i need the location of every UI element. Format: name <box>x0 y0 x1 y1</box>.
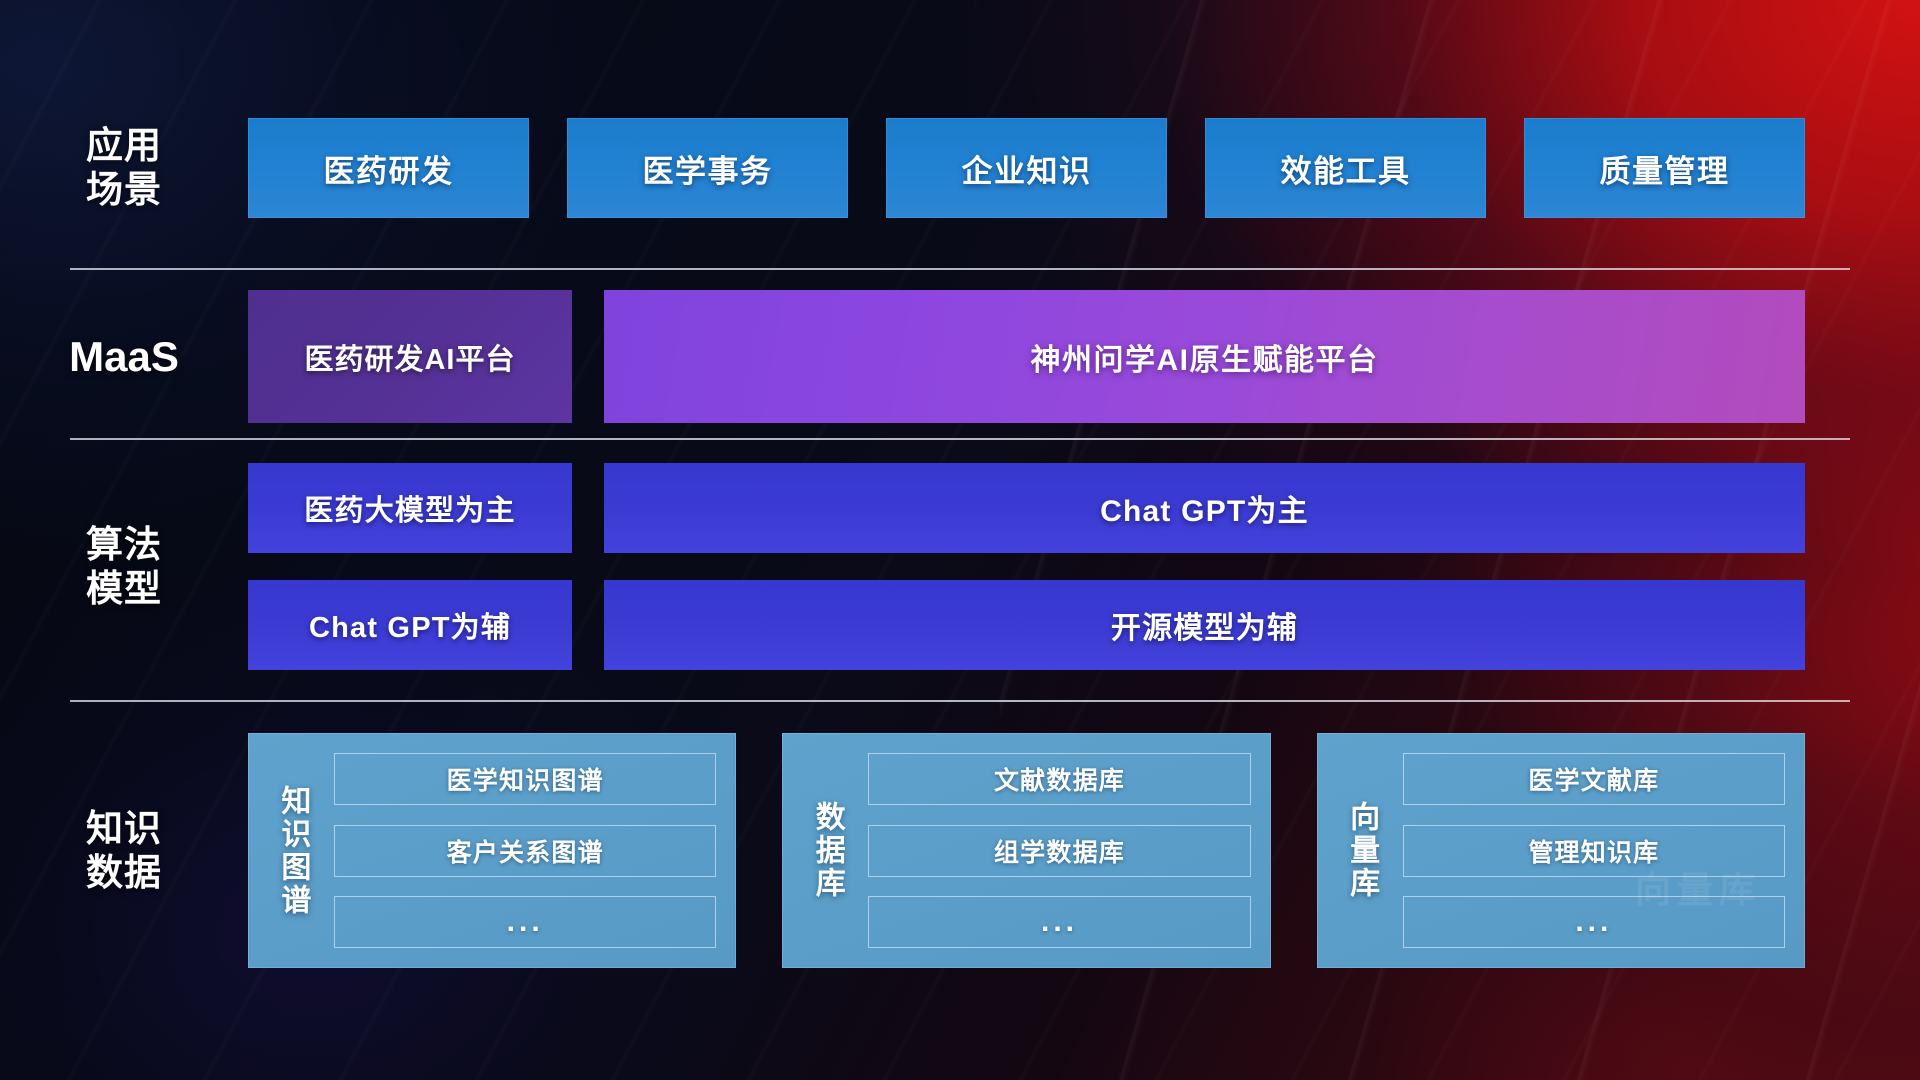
knowledge-item-customer-relation-graph[interactable]: 客户关系图谱 <box>334 825 716 877</box>
knowledge-group-label-knowledge-graph: 知识图谱 <box>260 747 324 954</box>
algorithm-left-column: 医药大模型为主 Chat GPT为辅 <box>248 463 572 670</box>
knowledge-item-more-knowledge-graph[interactable]: ... <box>334 896 716 948</box>
knowledge-items-vector-store: 医学文献库 管理知识库 ... <box>1393 747 1789 954</box>
row-label-maas: MaaS <box>0 332 248 382</box>
knowledge-items-database: 文献数据库 组学数据库 ... <box>858 747 1254 954</box>
algo-box-opensource-secondary[interactable]: 开源模型为辅 <box>604 580 1805 670</box>
algo-box-chatgpt-primary[interactable]: Chat GPT为主 <box>604 463 1805 553</box>
knowledge-group-knowledge-graph[interactable]: 知识图谱 医学知识图谱 客户关系图谱 ... <box>248 733 736 968</box>
knowledge-item-management-knowledge-store[interactable]: 管理知识库 <box>1403 825 1785 877</box>
application-boxes-container: 医药研发 医学事务 企业知识 效能工具 质量管理 <box>248 118 1920 218</box>
row-knowledge-data: 知识 数据 知识图谱 医学知识图谱 客户关系图谱 ... 数据库 文献数据库 组… <box>0 733 1920 968</box>
row-maas: MaaS 医药研发AI平台 神州问学AI原生赋能平台 <box>0 290 1920 423</box>
knowledge-item-more-vector-store[interactable]: ... <box>1403 896 1785 948</box>
divider-3 <box>70 700 1850 702</box>
maas-box-drug-rnd-ai-platform[interactable]: 医药研发AI平台 <box>248 290 572 423</box>
divider-1 <box>70 268 1850 270</box>
app-box-enterprise-knowledge[interactable]: 企业知识 <box>886 118 1167 218</box>
app-box-medical-affairs[interactable]: 医学事务 <box>567 118 848 218</box>
knowledge-item-medical-knowledge-graph[interactable]: 医学知识图谱 <box>334 753 716 805</box>
row-algorithm-model: 算法 模型 医药大模型为主 Chat GPT为辅 Chat GPT为主 开源模型… <box>0 463 1920 670</box>
knowledge-item-medical-literature-store[interactable]: 医学文献库 <box>1403 753 1785 805</box>
knowledge-item-omics-database[interactable]: 组学数据库 <box>868 825 1250 877</box>
row-label-application-scenarios: 应用 场景 <box>0 124 248 211</box>
maas-box-shenzhou-wenxue-platform[interactable]: 神州问学AI原生赋能平台 <box>604 290 1805 423</box>
slide-canvas: 应用 场景 医药研发 医学事务 企业知识 效能工具 质量管理 MaaS 医药研发… <box>0 0 1920 1080</box>
app-box-drug-rnd[interactable]: 医药研发 <box>248 118 529 218</box>
knowledge-groups-container: 知识图谱 医学知识图谱 客户关系图谱 ... 数据库 文献数据库 组学数据库 .… <box>248 733 1805 968</box>
maas-boxes-container: 医药研发AI平台 神州问学AI原生赋能平台 <box>248 290 1920 423</box>
row-label-algorithm-model: 算法 模型 <box>0 523 248 610</box>
knowledge-group-label-database: 数据库 <box>794 747 858 954</box>
algorithm-boxes-container: 医药大模型为主 Chat GPT为辅 Chat GPT为主 开源模型为辅 <box>248 463 1920 670</box>
app-box-quality-management[interactable]: 质量管理 <box>1524 118 1805 218</box>
row-label-knowledge-data: 知识 数据 <box>0 807 248 894</box>
algo-box-drug-large-model-primary[interactable]: 医药大模型为主 <box>248 463 572 553</box>
knowledge-item-literature-database[interactable]: 文献数据库 <box>868 753 1250 805</box>
knowledge-group-label-vector-store: 向量库 <box>1329 747 1393 954</box>
row-application-scenarios: 应用 场景 医药研发 医学事务 企业知识 效能工具 质量管理 <box>0 118 1920 218</box>
knowledge-group-database[interactable]: 数据库 文献数据库 组学数据库 ... <box>782 733 1270 968</box>
algorithm-right-column: Chat GPT为主 开源模型为辅 <box>604 463 1805 670</box>
knowledge-item-more-database[interactable]: ... <box>868 896 1250 948</box>
algo-box-chatgpt-secondary[interactable]: Chat GPT为辅 <box>248 580 572 670</box>
divider-2 <box>70 438 1850 440</box>
knowledge-group-vector-store[interactable]: 向量库 向量库 医学文献库 管理知识库 ... <box>1317 733 1805 968</box>
app-box-efficiency-tools[interactable]: 效能工具 <box>1205 118 1486 218</box>
knowledge-items-knowledge-graph: 医学知识图谱 客户关系图谱 ... <box>324 747 720 954</box>
